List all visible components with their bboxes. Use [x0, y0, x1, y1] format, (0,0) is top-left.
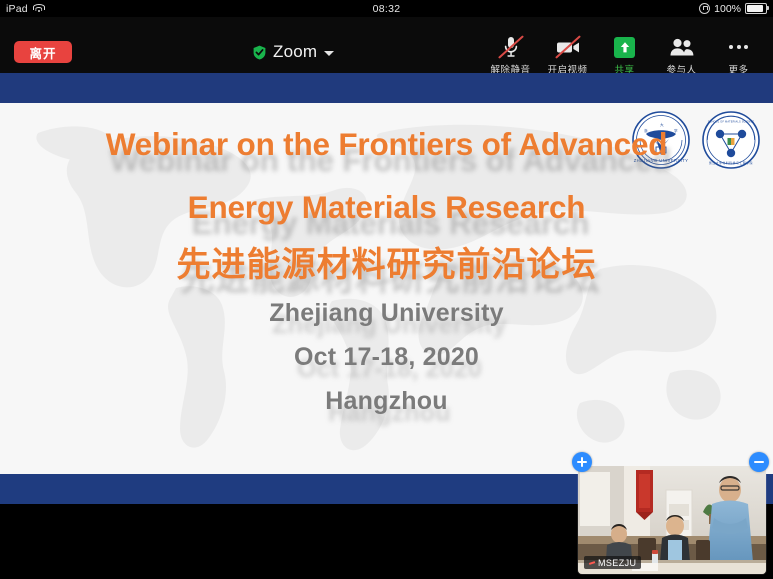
- shield-check-icon: [253, 45, 266, 60]
- more-ellipsis-icon: [729, 35, 748, 59]
- video-camera-off-icon: [555, 35, 581, 59]
- slide-text-block: Webinar on the Frontiers of Advanced Ene…: [0, 103, 773, 474]
- meeting-title-dropdown[interactable]: Zoom: [253, 39, 334, 65]
- lock-rotation-icon: [699, 3, 710, 14]
- status-bar-right: 100%: [699, 3, 767, 15]
- zoom-in-button[interactable]: [572, 452, 592, 472]
- self-view-video-thumbnail[interactable]: MSEZJU: [578, 466, 766, 574]
- start-video-button[interactable]: 开启视频: [539, 35, 596, 76]
- self-view-participant-label: MSEZJU: [584, 556, 641, 569]
- shared-screen-stage[interactable]: ZHEJIANG UNIVERSITY 浙 大 学: [0, 73, 773, 505]
- zoom-out-button[interactable]: [749, 452, 769, 472]
- mic-muted-small-icon: [589, 561, 595, 564]
- slide-top-band: [0, 73, 773, 103]
- slide-title-chinese: 先进能源材料研究前沿论坛: [177, 239, 597, 291]
- slide-title-line-2: Energy Materials Research: [188, 176, 586, 239]
- participants-button[interactable]: 参与人: [653, 35, 710, 76]
- share-screen-up-arrow-icon: [614, 35, 635, 59]
- slide-title-line-1: Webinar on the Frontiers of Advanced: [106, 113, 668, 176]
- plus-icon-vertical: [581, 457, 583, 467]
- self-view-name-text: MSEZJU: [598, 558, 636, 568]
- microphone-muted-icon: [503, 35, 519, 59]
- status-bar-clock: 08:32: [0, 3, 773, 15]
- presentation-slide: ZHEJIANG UNIVERSITY 浙 大 学: [0, 103, 773, 474]
- chevron-down-icon: [324, 51, 334, 56]
- share-screen-button[interactable]: 共享: [596, 35, 653, 76]
- unmute-button[interactable]: 解除静音: [482, 35, 539, 76]
- participants-people-icon: [669, 35, 695, 59]
- slide-subtitle-dates: Oct 17-18, 2020: [294, 335, 479, 379]
- toolbar-actions: 解除静音 开启视频: [482, 35, 767, 76]
- minus-icon: [754, 461, 764, 463]
- slide-subtitle-city: Hangzhou: [325, 379, 447, 423]
- ios-status-bar: iPad 08:32 100%: [0, 0, 773, 17]
- more-options-button[interactable]: 更多: [710, 35, 767, 76]
- leave-meeting-button[interactable]: 离开: [14, 41, 72, 63]
- zoom-toolbar: 离开 Zoom: [0, 17, 773, 73]
- slide-subtitle-university: Zhejiang University: [269, 291, 503, 335]
- battery-full-icon: [745, 3, 767, 14]
- meeting-title-label: Zoom: [273, 42, 317, 62]
- battery-percent-label: 100%: [714, 3, 741, 15]
- zoom-meeting-screen: iPad 08:32 100% 离开 Zoom: [0, 0, 773, 579]
